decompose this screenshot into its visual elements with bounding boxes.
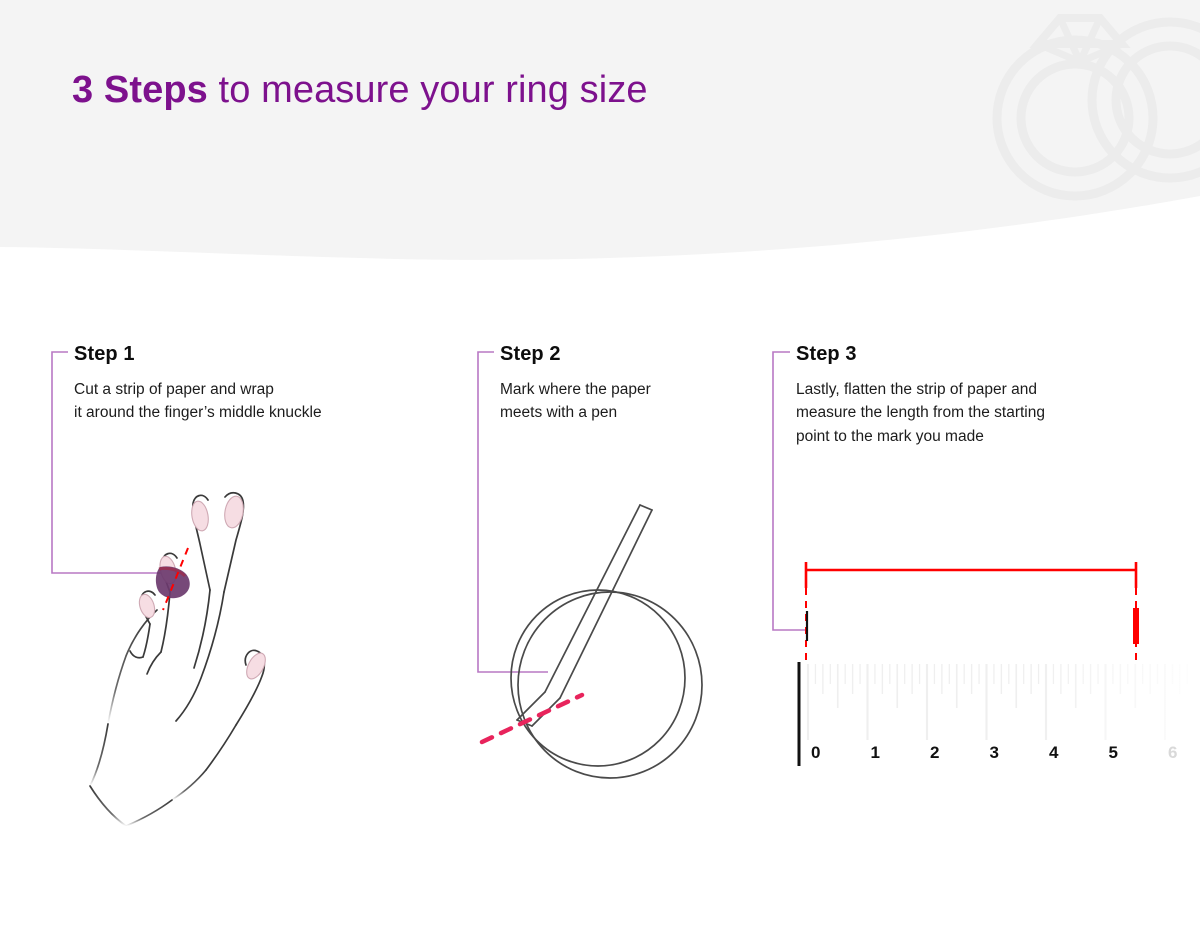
ruler-number-6: 6 (1168, 743, 1177, 762)
ruler-illustration: 0123456 (780, 548, 1200, 793)
step-3-column: Step 3 Lastly, flatten the strip of pape… (796, 344, 1168, 448)
page-title: 3 Steps to measure your ring size (72, 69, 648, 113)
hand-illustration (60, 440, 400, 845)
ruler-number-2: 2 (930, 743, 939, 762)
step-1-column: Step 1 Cut a strip of paper and wrap it … (74, 344, 474, 425)
paper-strip-band (156, 566, 190, 598)
step-2-body: Mark where the paper meets with a pen (500, 378, 750, 425)
flattened-paper-strip (807, 611, 1180, 641)
step-3-title: Step 3 (796, 344, 1168, 364)
header-band-shape (0, 0, 1200, 270)
page-title-strong: 3 Steps (72, 69, 208, 111)
step-3-body: Lastly, flatten the strip of paper and m… (796, 378, 1168, 448)
ruler-number-labels: 0123456 (811, 743, 1177, 762)
ruler-ticks (808, 664, 1187, 740)
step-2-title: Step 2 (500, 344, 750, 364)
header-band: 3 Steps to measure your ring size (0, 0, 1200, 270)
step-2-column: Step 2 Mark where the paper meets with a… (500, 344, 750, 425)
ruler-number-1: 1 (871, 743, 880, 762)
ruler-number-5: 5 (1109, 743, 1118, 762)
coiled-strip-illustration (470, 480, 770, 805)
fingernails (137, 495, 270, 682)
step-1-body: Cut a strip of paper and wrap it around … (74, 378, 474, 425)
ruler-number-3: 3 (990, 743, 999, 762)
page-title-rest: to measure your ring size (208, 69, 648, 111)
ruler-number-0: 0 (811, 743, 820, 762)
step-1-title: Step 1 (74, 344, 474, 364)
ruler-number-4: 4 (1049, 743, 1059, 762)
